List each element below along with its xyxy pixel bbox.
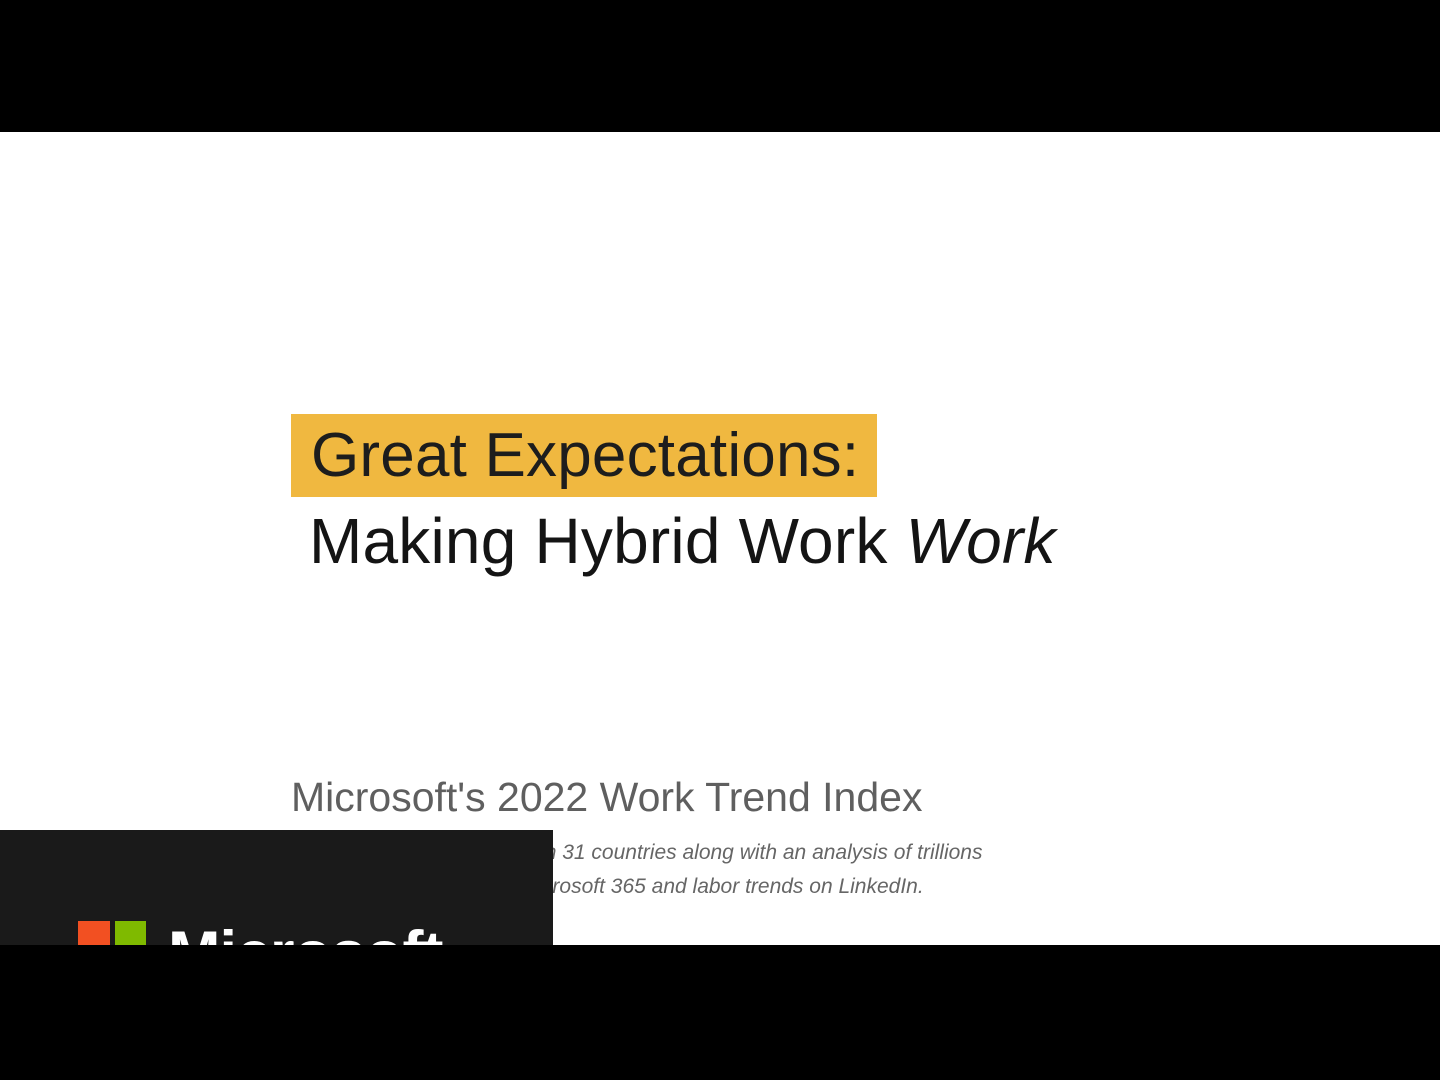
letterbox-bar-bottom [0,945,1440,1080]
microsoft-wordmark: Microsoft [168,923,443,945]
title-line-secondary-prefix: Making Hybrid Work [309,505,906,577]
slide-title-block: Great Expectations: Making Hybrid Work W… [291,414,1056,577]
title-line-secondary-emphasis: Work [906,505,1056,577]
logo-square-green [115,921,147,946]
brand-overlay-panel: Microsoft [0,830,553,945]
logo-square-red [78,921,110,946]
body-heading: Microsoft's 2022 Work Trend Index [291,772,1291,822]
microsoft-logo-icon [78,921,146,946]
title-line-highlighted: Great Expectations: [291,414,877,497]
video-player-stage: Great Expectations: Making Hybrid Work W… [0,0,1440,1080]
title-line-secondary: Making Hybrid Work Work [309,505,1056,577]
letterbox-bar-top [0,0,1440,132]
presentation-slide: Great Expectations: Making Hybrid Work W… [0,132,1440,945]
